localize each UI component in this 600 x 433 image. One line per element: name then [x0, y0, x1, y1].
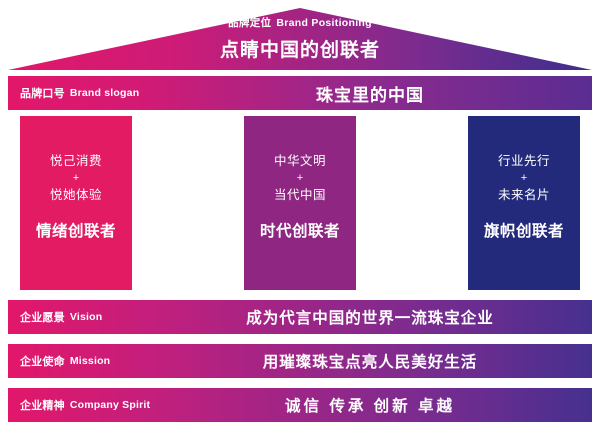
pillar-flagship-plus: +: [521, 171, 527, 186]
vision-label-cn: 企业愿景: [20, 309, 65, 325]
brand-positioning-title: 点睛中国的创联者: [220, 35, 380, 62]
brand-positioning-label-en: Brand Positioning: [276, 17, 372, 29]
brand-slogan-band: 品牌口号Brand slogan 珠宝里的中国: [8, 76, 592, 110]
vision-value: 成为代言中国的世界一流珠宝企业: [148, 300, 592, 334]
mission-value: 用璀璨珠宝点亮人民美好生活: [148, 344, 592, 378]
company-spirit-label-en: Company Spirit: [70, 399, 150, 411]
pillar-era-title: 时代创联者: [260, 219, 340, 241]
brand-positioning-label-cn: 品牌定位: [228, 17, 271, 29]
pillar-flagship-title: 旗帜创联者: [484, 219, 564, 241]
brand-slogan-value: 珠宝里的中国: [148, 76, 592, 110]
pillar-era-line1: 中华文明: [274, 152, 326, 171]
company-spirit-label-cn: 企业精神: [20, 397, 65, 413]
pillar-emotion-title: 情绪创联者: [36, 219, 116, 241]
mission-label-en: Mission: [70, 355, 111, 367]
pillar-era: 中华文明 + 当代中国 时代创联者: [244, 116, 356, 290]
brand-slogan-label: 品牌口号Brand slogan: [8, 76, 148, 110]
brand-architecture-diagram: 品牌定位Brand Positioning 点睛中国的创联者 品牌口号Brand…: [0, 0, 600, 433]
vision-label: 企业愿景Vision: [8, 300, 148, 334]
brand-slogan-label-cn: 品牌口号: [20, 85, 65, 101]
mission-band: 企业使命Mission 用璀璨珠宝点亮人民美好生活: [8, 344, 592, 378]
roof-text-block: 品牌定位Brand Positioning 点睛中国的创联者: [8, 8, 592, 70]
pillar-emotion-line1: 悦己消费: [50, 152, 102, 171]
brand-positioning-label: 品牌定位Brand Positioning: [228, 16, 372, 30]
vision-band: 企业愿景Vision 成为代言中国的世界一流珠宝企业: [8, 300, 592, 334]
pillar-emotion-plus: +: [73, 171, 79, 186]
brand-positioning-roof: 品牌定位Brand Positioning 点睛中国的创联者: [8, 8, 592, 70]
pillars-row: 悦己消费 + 悦她体验 情绪创联者 中华文明 + 当代中国 时代创联者 行业先行…: [8, 116, 592, 290]
company-spirit-label: 企业精神Company Spirit: [8, 388, 148, 422]
brand-slogan-label-en: Brand slogan: [70, 87, 140, 99]
company-spirit-value: 诚信 传承 创新 卓越: [148, 388, 592, 422]
pillar-era-plus: +: [297, 171, 303, 186]
pillar-emotion: 悦己消费 + 悦她体验 情绪创联者: [20, 116, 132, 290]
pillar-flagship: 行业先行 + 未来名片 旗帜创联者: [468, 116, 580, 290]
vision-label-en: Vision: [70, 311, 103, 323]
mission-label-cn: 企业使命: [20, 353, 65, 369]
pillar-flagship-line2: 未来名片: [498, 186, 550, 205]
pillar-flagship-line1: 行业先行: [498, 152, 550, 171]
pillar-emotion-line2: 悦她体验: [50, 186, 102, 205]
pillar-era-line2: 当代中国: [274, 186, 326, 205]
mission-label: 企业使命Mission: [8, 344, 148, 378]
company-spirit-band: 企业精神Company Spirit 诚信 传承 创新 卓越: [8, 388, 592, 422]
